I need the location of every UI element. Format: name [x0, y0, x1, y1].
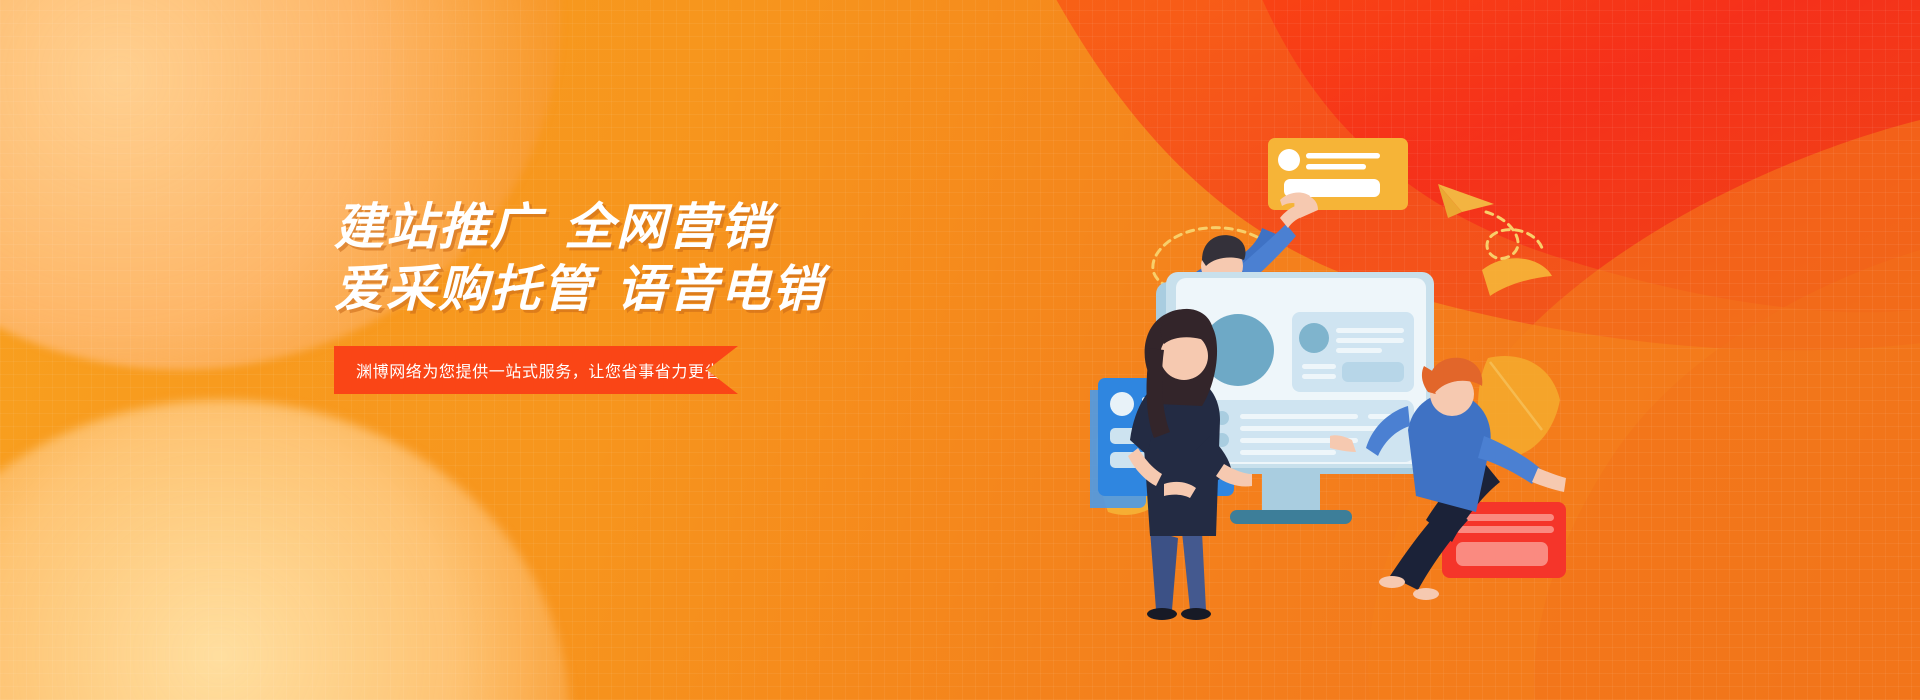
team-website-illustration	[1090, 100, 1570, 620]
tagline-ribbon: 渊博网络为您提供一站式服务，让您省事省力更省心	[334, 346, 738, 394]
headline-line-2-part-2: 语音电销	[616, 261, 824, 317]
promo-banner: 建站推广全网营销 爱采购托管语音电销 渊博网络为您提供一站式服务，让您省事省力更…	[0, 0, 1920, 700]
banner-copy-block: 建站推广全网营销 爱采购托管语音电销 渊博网络为您提供一站式服务，让您省事省力更…	[334, 196, 1094, 394]
dashed-path-line-right	[1486, 212, 1542, 259]
headline-line-1: 建站推广全网营销	[334, 196, 1094, 258]
headline-line-1-part-1: 建站推广	[334, 199, 542, 255]
headline-line-2: 爱采购托管语音电销	[334, 258, 1094, 320]
headline-line-1-part-2: 全网营销	[564, 199, 772, 255]
headline-line-2-part-1: 爱采购托管	[334, 261, 594, 317]
tagline-text: 渊博网络为您提供一站式服务，让您省事省力更省心	[334, 358, 738, 382]
